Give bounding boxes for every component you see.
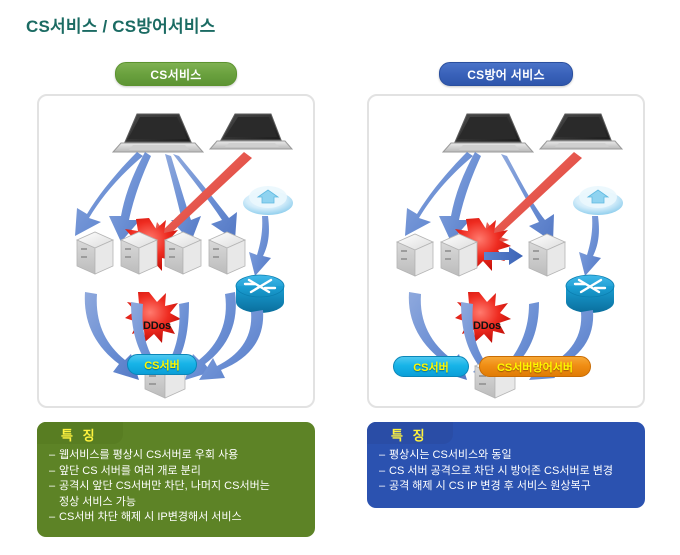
server-icon-front-1 [77, 232, 113, 274]
feature-item-text: 공격시 앞단 CS서버만 차단, 나머지 CS서버는 정상 서비스 가능 [59, 480, 270, 508]
flow-arrow-cloud-to-router-left [249, 216, 271, 276]
feature-item-text: 앞단 CS 서버를 여러 개로 분리 [59, 465, 201, 477]
feature-list-left: –웹서비스를 평상시 CS서버로 우회 사용 –앞단 CS 서버를 여러 개로 … [49, 448, 303, 526]
bullet-dash: – [379, 464, 385, 480]
bullet-dash: – [379, 448, 385, 464]
feature-title-left: 특 징 [61, 425, 98, 444]
page-title: CS서비스 / CS방어서비스 [26, 12, 216, 37]
panel-heading-cs-defense-service: CS방어 서비스 [439, 62, 573, 86]
feature-box-cs-service: 특 징 –웹서비스를 평상시 CS서버로 우회 사용 –앞단 CS 서버를 여러… [37, 422, 315, 537]
feature-item-text: CS서버 차단 해제 시 IP변경해서 서비스 [59, 511, 242, 523]
feature-item: –앞단 CS 서버를 여러 개로 분리 [49, 464, 303, 480]
server-icon-front-2 [441, 234, 477, 276]
bullet-dash: – [49, 510, 55, 526]
server-icon-front-4 [209, 232, 245, 274]
server-icon-defense [529, 234, 565, 276]
flow-arrow-cloud-to-router-right [579, 216, 601, 276]
feature-item-text: 공격 해제 시 CS IP 변경 후 서비스 원상복구 [389, 480, 591, 492]
feature-list-right: –평상시는 CS서비스와 동일 –CS 서버 공격으로 차단 시 방어존 CS서… [379, 448, 633, 495]
laptop-icon-attacker-left [443, 114, 533, 152]
feature-box-cs-defense-service: 특 징 –평상시는 CS서비스와 동일 –CS 서버 공격으로 차단 시 방어존… [367, 422, 645, 508]
bullet-dash: – [379, 479, 385, 495]
feature-item: –공격시 앞단 CS서버만 차단, 나머지 CS서버는 정상 서비스 가능 [49, 479, 303, 510]
feature-item: –공격 해제 시 CS IP 변경 후 서비스 원상복구 [379, 479, 633, 495]
diagram-cs-service: DDos CS서버 본서버 [37, 94, 315, 408]
feature-item: –웹서비스를 평상시 CS서버로 우회 사용 [49, 448, 303, 464]
cloud-icon-right [573, 186, 623, 215]
server-icon-front-3 [165, 232, 201, 274]
feature-item: –CS서버 차단 해제 시 IP변경해서 서비스 [49, 510, 303, 526]
laptop-icon-attacker-left [113, 114, 203, 152]
laptop-icon-attacker-right [540, 114, 622, 149]
laptop-icon-attacker-right [210, 114, 292, 149]
router-icon-right [566, 275, 614, 313]
cloud-icon-left [243, 186, 293, 215]
server-icon-front-2 [121, 232, 157, 274]
feature-item-text: CS 서버 공격으로 차단 시 방어존 CS서버로 변경 [389, 465, 613, 477]
bullet-dash: – [49, 479, 55, 495]
feature-item-text: 평상시는 CS서비스와 동일 [389, 449, 512, 461]
feature-item: –평상시는 CS서비스와 동일 [379, 448, 633, 464]
panel-cs-defense-service: CS방어 서비스 [356, 62, 656, 508]
router-icon-left [236, 275, 284, 313]
bullet-dash: – [49, 448, 55, 464]
feature-item: –CS 서버 공격으로 차단 시 방어존 CS서버로 변경 [379, 464, 633, 480]
node-label-cs-server-right: CS서버 [393, 356, 469, 377]
panel-cs-service: CS서비스 [26, 62, 326, 537]
ddos-label-right: DDos [473, 320, 501, 332]
diagram-cs-defense-service: DDos CS서버 CS서버방어서버 본서버 [367, 94, 645, 408]
panel-heading-cs-service: CS서비스 [115, 62, 237, 86]
bullet-dash: – [49, 464, 55, 480]
feature-item-text: 웹서비스를 평상시 CS서버로 우회 사용 [59, 449, 238, 461]
server-icon-front-1 [397, 234, 433, 276]
node-label-cs-server-left: CS서버 [127, 354, 197, 375]
node-label-cs-defense-server: CS서버방어서버 [479, 356, 591, 377]
feature-title-right: 특 징 [391, 425, 428, 444]
ddos-label-left: DDos [143, 320, 171, 332]
